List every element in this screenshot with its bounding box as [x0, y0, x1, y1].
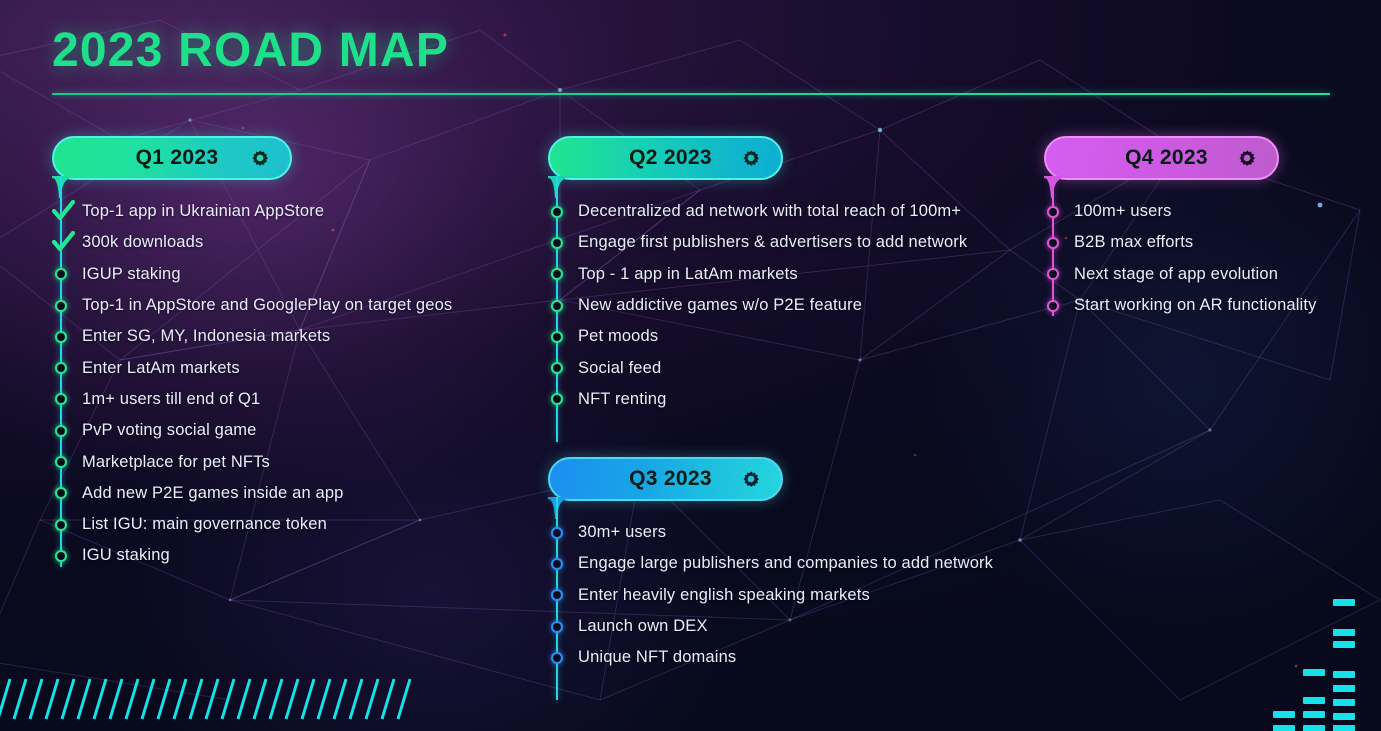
list-item[interactable]: Unique NFT domains: [548, 642, 1018, 673]
quarter-badge-label-q4: Q4 2023: [1072, 146, 1235, 170]
gear-icon: [739, 467, 763, 491]
quarter-items-q3: 30m+ users Engage large publishers and c…: [548, 501, 1018, 673]
list-item-label: Enter SG, MY, Indonesia markets: [82, 327, 330, 346]
bullet-icon: [551, 652, 563, 664]
quarter-column-q2: Q2 2023 Decentralized ad network with to…: [548, 136, 1018, 415]
list-item[interactable]: Top - 1 app in LatAm markets: [548, 259, 1018, 290]
quarter-column-q3: Q3 2023 30m+ users Engage large publishe…: [548, 457, 1018, 673]
check-icon: [51, 200, 75, 224]
bullet-icon: [55, 331, 67, 343]
list-item[interactable]: Add new P2E games inside an app: [52, 478, 522, 509]
list-item-label: IGU staking: [82, 546, 170, 565]
list-item[interactable]: Enter LatAm markets: [52, 352, 522, 383]
quarter-column-q4: Q4 2023 100m+ users B2B max efforts Next…: [1044, 136, 1374, 321]
list-item[interactable]: Engage first publishers & advertisers to…: [548, 227, 1018, 258]
list-item-label: Top-1 in AppStore and GooglePlay on targ…: [82, 296, 452, 315]
list-item[interactable]: Enter SG, MY, Indonesia markets: [52, 321, 522, 352]
bullet-icon: [551, 206, 563, 218]
quarter-badge-q2[interactable]: Q2 2023: [548, 136, 783, 180]
bullet-icon: [55, 300, 67, 312]
list-item[interactable]: NFT renting: [548, 384, 1018, 415]
list-item[interactable]: IGUP staking: [52, 259, 522, 290]
list-item-label: 1m+ users till end of Q1: [82, 390, 260, 409]
list-item[interactable]: Pet moods: [548, 321, 1018, 352]
bullet-icon: [55, 362, 67, 374]
list-item[interactable]: Enter heavily english speaking markets: [548, 580, 1018, 611]
bullet-icon: [55, 519, 67, 531]
list-item-label: 100m+ users: [1074, 202, 1172, 221]
list-item-label: B2B max efforts: [1074, 233, 1193, 252]
bullet-icon: [1047, 237, 1059, 249]
quarter-badge-label-q2: Q2 2023: [576, 146, 739, 170]
bullet-icon: [551, 362, 563, 374]
list-item-label: Social feed: [578, 359, 661, 378]
list-item-label: Unique NFT domains: [578, 648, 736, 667]
list-item[interactable]: 300k downloads: [52, 227, 522, 258]
quarter-badge-wrap-q3: Q3 2023: [548, 457, 1018, 501]
list-item-label: PvP voting social game: [82, 421, 257, 440]
list-item-label: Add new P2E games inside an app: [82, 484, 344, 503]
list-item[interactable]: Social feed: [548, 352, 1018, 383]
list-item-label: Enter heavily english speaking markets: [578, 586, 870, 605]
list-item[interactable]: 1m+ users till end of Q1: [52, 384, 522, 415]
list-item-label: 30m+ users: [578, 523, 666, 542]
diagonal-slashes-icon: [0, 675, 420, 721]
bullet-icon: [551, 268, 563, 280]
list-item-label: NFT renting: [578, 390, 666, 409]
list-item[interactable]: Next stage of app evolution: [1044, 259, 1374, 290]
list-item[interactable]: Engage large publishers and companies to…: [548, 548, 1018, 579]
list-item[interactable]: IGU staking: [52, 540, 522, 571]
bullet-icon: [551, 527, 563, 539]
list-item[interactable]: New addictive games w/o P2E feature: [548, 290, 1018, 321]
list-item-label: 300k downloads: [82, 233, 203, 252]
bullet-icon: [551, 393, 563, 405]
quarter-column-q1: Q1 2023 Top-1 app in Ukrainian AppStore: [52, 136, 522, 572]
staggered-dashes-icon: [1261, 581, 1381, 731]
list-item[interactable]: Marketplace for pet NFTs: [52, 446, 522, 477]
quarter-badge-q3[interactable]: Q3 2023: [548, 457, 783, 501]
gear-icon: [1235, 146, 1259, 170]
list-item-label: List IGU: main governance token: [82, 515, 327, 534]
gear-icon: [248, 146, 272, 170]
title-divider: [52, 93, 1330, 95]
bullet-icon: [1047, 268, 1059, 280]
gear-icon: [739, 146, 763, 170]
bullet-icon: [551, 331, 563, 343]
bullet-icon: [55, 550, 67, 562]
quarter-items-q2: Decentralized ad network with total reac…: [548, 180, 1018, 415]
list-item[interactable]: List IGU: main governance token: [52, 509, 522, 540]
bullet-icon: [551, 621, 563, 633]
list-item-label: IGUP staking: [82, 265, 181, 284]
quarter-badge-q4[interactable]: Q4 2023: [1044, 136, 1279, 180]
bullet-icon: [55, 425, 67, 437]
list-item[interactable]: Decentralized ad network with total reac…: [548, 196, 1018, 227]
list-item-label: Enter LatAm markets: [82, 359, 240, 378]
header: 2023 ROAD MAP: [52, 26, 1332, 76]
list-item-label: Decentralized ad network with total reac…: [578, 202, 961, 221]
list-item[interactable]: Launch own DEX: [548, 611, 1018, 642]
list-item[interactable]: Top-1 in AppStore and GooglePlay on targ…: [52, 290, 522, 321]
check-icon: [51, 231, 75, 255]
quarter-badge-q1[interactable]: Q1 2023: [52, 136, 292, 180]
list-item-label: Top - 1 app in LatAm markets: [578, 265, 798, 284]
bullet-icon: [551, 558, 563, 570]
list-item[interactable]: Start working on AR functionality: [1044, 290, 1374, 321]
list-item-label: Pet moods: [578, 327, 658, 346]
list-item-label: New addictive games w/o P2E feature: [578, 296, 862, 315]
bullet-icon: [55, 268, 67, 280]
list-item-label: Marketplace for pet NFTs: [82, 453, 270, 472]
list-item-label: Start working on AR functionality: [1074, 296, 1316, 315]
quarter-badge-wrap-q4: Q4 2023: [1044, 136, 1374, 180]
list-item-label: Engage large publishers and companies to…: [578, 554, 993, 573]
bullet-icon: [1047, 300, 1059, 312]
quarter-badge-wrap-q1: Q1 2023: [52, 136, 522, 180]
quarter-items-q1: Top-1 app in Ukrainian AppStore 300k dow…: [52, 180, 522, 572]
bullet-icon: [55, 393, 67, 405]
bullet-icon: [551, 237, 563, 249]
list-item[interactable]: PvP voting social game: [52, 415, 522, 446]
page-title: 2023 ROAD MAP: [52, 26, 1332, 76]
quarter-badge-wrap-q2: Q2 2023: [548, 136, 1018, 180]
bullet-icon: [1047, 206, 1059, 218]
list-item[interactable]: B2B max efforts: [1044, 227, 1374, 258]
bullet-icon: [55, 456, 67, 468]
quarter-badge-label-q3: Q3 2023: [576, 467, 739, 491]
list-item[interactable]: 100m+ users: [1044, 196, 1374, 227]
bullet-icon: [55, 487, 67, 499]
bullet-icon: [551, 300, 563, 312]
list-item[interactable]: Top-1 app in Ukrainian AppStore: [52, 196, 522, 227]
list-item[interactable]: 30m+ users: [548, 517, 1018, 548]
list-item-label: Launch own DEX: [578, 617, 708, 636]
quarter-badge-label-q1: Q1 2023: [80, 146, 248, 170]
list-item-label: Top-1 app in Ukrainian AppStore: [82, 202, 324, 221]
quarter-items-q4: 100m+ users B2B max efforts Next stage o…: [1044, 180, 1374, 321]
list-item-label: Next stage of app evolution: [1074, 265, 1278, 284]
bullet-icon: [551, 589, 563, 601]
list-item-label: Engage first publishers & advertisers to…: [578, 233, 967, 252]
